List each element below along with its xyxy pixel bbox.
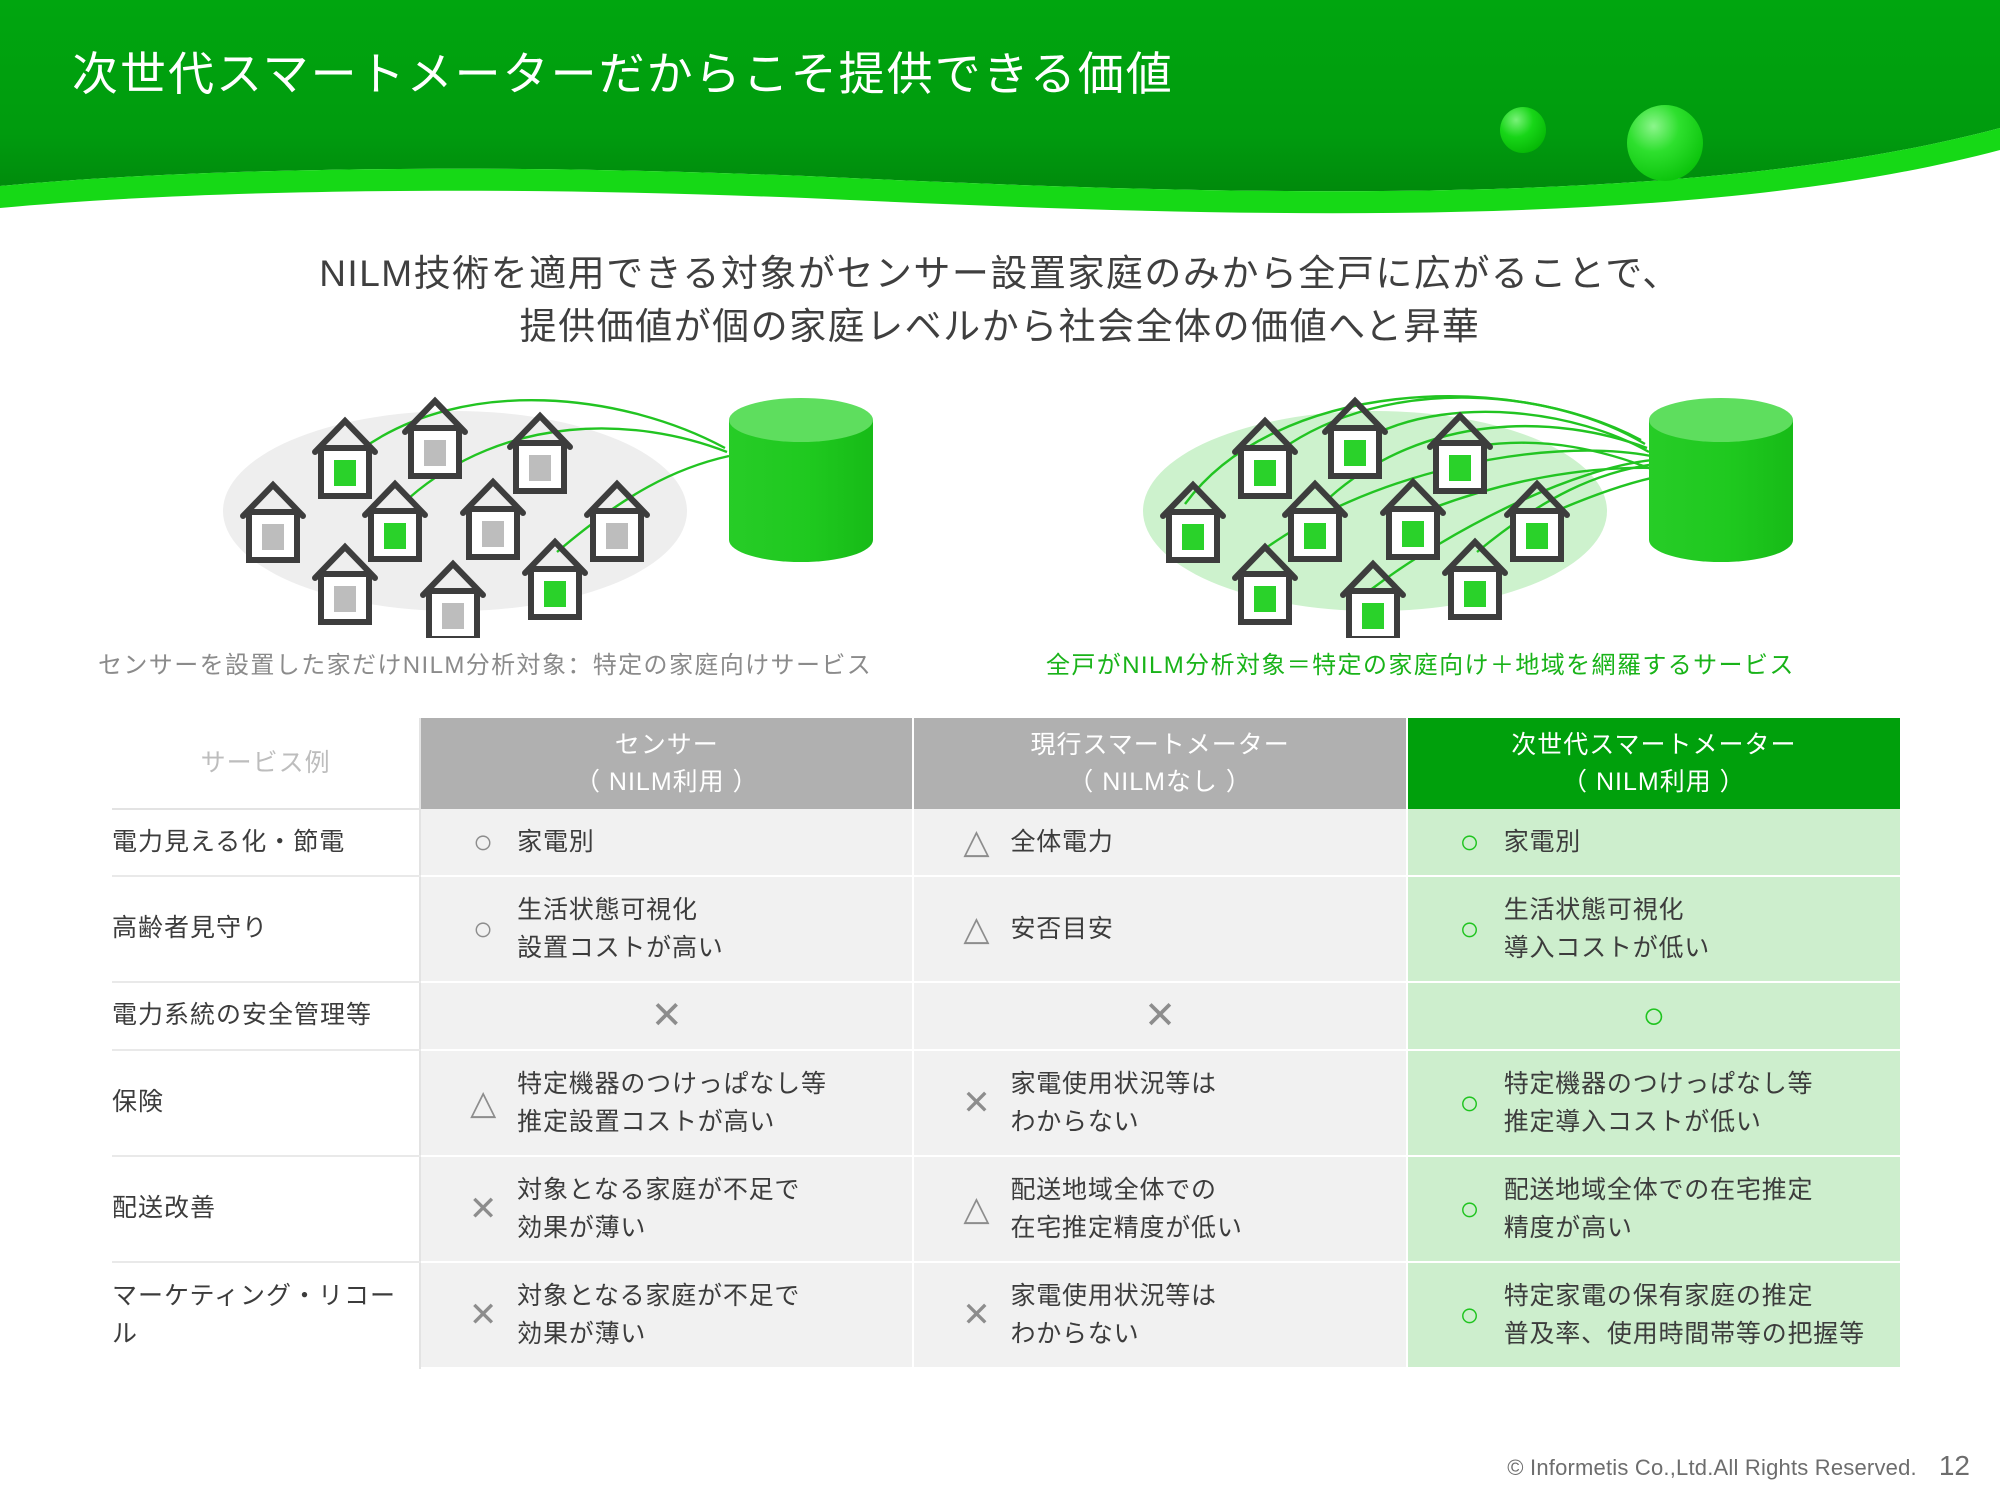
status-mark-tri: △ xyxy=(463,1086,503,1120)
header-service-example: サービス例 xyxy=(112,718,420,809)
footer: © Informetis Co.,Ltd.All Rights Reserved… xyxy=(1507,1450,1970,1482)
status-mark-circle: ○ xyxy=(463,912,503,946)
cell-text-line: 特定機器のつけっぱなし等 xyxy=(517,1065,827,1103)
header-next-gen-meter: 次世代スマートメーター （ NILM利用 ） xyxy=(1407,718,1900,809)
status-mark-tri: △ xyxy=(956,825,996,859)
cell-text-line: 対象となる家庭が不足で xyxy=(517,1171,800,1209)
meter-inactive xyxy=(262,524,284,550)
meter-active xyxy=(1402,521,1424,547)
cell-text: 安否目安 xyxy=(1010,910,1113,948)
status-mark-cross: ✕ xyxy=(956,1086,996,1120)
header-sensor-line2: （ NILM利用 ） xyxy=(421,764,912,800)
cell-text: 全体電力 xyxy=(1010,823,1113,861)
row-label: 配送改善 xyxy=(112,1156,420,1262)
cell-sensor: ✕対象となる家庭が不足で効果が薄い xyxy=(420,1156,913,1262)
table-row: 高齢者見守り○生活状態可視化設置コストが高い△安否目安○生活状態可視化導入コスト… xyxy=(112,876,1900,982)
cell-current: △全体電力 xyxy=(913,809,1406,876)
cell-text: 配送地域全体での在宅推定精度が低い xyxy=(1010,1171,1242,1247)
status-mark-circle: ○ xyxy=(1450,1086,1490,1120)
header-bubble-small xyxy=(1500,107,1546,153)
meter-active xyxy=(1254,460,1276,486)
row-label: 電力見える化・節電 xyxy=(112,809,420,876)
meter-active xyxy=(384,523,406,549)
meter-active xyxy=(1344,440,1366,466)
cell-next: ○家電別 xyxy=(1407,809,1900,876)
status-mark-cross: ✕ xyxy=(956,1298,996,1332)
cell-text: 家電使用状況等はわからない xyxy=(1010,1065,1216,1141)
cell-text: 家電別 xyxy=(1504,823,1581,861)
cell-text-line: 家電使用状況等は xyxy=(1010,1065,1216,1103)
status-mark-circle: ○ xyxy=(1642,997,1665,1035)
cell-text: 配送地域全体での在宅推定精度が高い xyxy=(1504,1171,1814,1247)
header-banner xyxy=(0,0,2000,230)
cell-text-line: 普及率、使用時間帯等の把握等 xyxy=(1504,1315,1865,1353)
diagram-row xyxy=(0,376,2000,636)
cell-text-line: 家電別 xyxy=(517,823,594,861)
meter-active xyxy=(1254,586,1276,612)
cell-text: 特定機器のつけっぱなし等推定導入コストが低い xyxy=(1504,1065,1814,1141)
table-row: 電力系統の安全管理等✕✕○ xyxy=(112,982,1900,1050)
subtitle-line-2: 提供価値が個の家庭レベルから社会全体の価値へと昇華 xyxy=(0,301,2000,354)
status-mark-cross: ✕ xyxy=(651,997,683,1035)
page-title: 次世代スマートメーターだからこそ提供できる価値 xyxy=(72,38,1174,104)
header-next-line2: （ NILM利用 ） xyxy=(1408,764,1900,800)
cell-sensor: ○生活状態可視化設置コストが高い xyxy=(420,876,913,982)
cell-next: ○配送地域全体での在宅推定精度が高い xyxy=(1407,1156,1900,1262)
cell-text: 対象となる家庭が不足で効果が薄い xyxy=(517,1277,800,1353)
meter-inactive xyxy=(606,523,628,549)
meter-active xyxy=(1304,523,1326,549)
meter-inactive xyxy=(442,603,464,629)
cell-sensor: △特定機器のつけっぱなし等推定設置コストが高い xyxy=(420,1050,913,1156)
table-row: 配送改善✕対象となる家庭が不足で効果が薄い△配送地域全体での在宅推定精度が低い○… xyxy=(112,1156,1900,1262)
cell-text-line: 導入コストが低い xyxy=(1504,929,1710,967)
caption-right: 全戸がNILM分析対象＝特定の家庭向け＋地域を網羅するサービス xyxy=(1046,645,1795,680)
header-current-meter: 現行スマートメーター （ NILMなし ） xyxy=(913,718,1406,809)
subtitle-block: NILM技術を適用できる対象がセンサー設置家庭のみから全戸に広がることで、 提供… xyxy=(0,248,2000,353)
copyright-text: © Informetis Co.,Ltd.All Rights Reserved… xyxy=(1507,1455,1917,1481)
status-mark-circle: ○ xyxy=(463,825,503,859)
meter-active xyxy=(1182,524,1204,550)
cell-sensor: ✕対象となる家庭が不足で効果が薄い xyxy=(420,1262,913,1368)
meter-active xyxy=(1526,523,1548,549)
cell-text-line: 精度が高い xyxy=(1504,1209,1814,1247)
header-sensor: センサー （ NILM利用 ） xyxy=(420,718,913,809)
cell-text-line: 特定家電の保有家庭の推定 xyxy=(1504,1277,1865,1315)
cell-text: 家電使用状況等はわからない xyxy=(1010,1277,1216,1353)
cell-text-line: 全体電力 xyxy=(1010,823,1113,861)
header-current-line1: 現行スマートメーター xyxy=(914,727,1405,763)
cell-next: ○特定機器のつけっぱなし等推定導入コストが低い xyxy=(1407,1050,1900,1156)
header-current-line2: （ NILMなし ） xyxy=(914,764,1405,800)
cell-current: ✕ xyxy=(913,982,1406,1050)
meter-inactive xyxy=(334,586,356,612)
status-mark-tri: △ xyxy=(956,912,996,946)
cell-current: ✕家電使用状況等はわからない xyxy=(913,1050,1406,1156)
cell-text-line: 在宅推定精度が低い xyxy=(1010,1209,1242,1247)
cell-sensor: ✕ xyxy=(420,982,913,1050)
meter-active xyxy=(334,460,356,486)
status-mark-circle: ○ xyxy=(1450,1298,1490,1332)
meter-active xyxy=(544,581,566,607)
cell-text-line: わからない xyxy=(1010,1103,1216,1141)
row-label-line1: マーケティング・ xyxy=(112,1282,318,1310)
meter-active xyxy=(1464,581,1486,607)
status-mark-cross: ✕ xyxy=(1144,997,1176,1035)
cell-text-line: 配送地域全体での在宅推定 xyxy=(1504,1171,1814,1209)
cell-text-line: 家電使用状況等は xyxy=(1010,1277,1216,1315)
cell-next: ○特定家電の保有家庭の推定普及率、使用時間帯等の把握等 xyxy=(1407,1262,1900,1368)
page-number: 12 xyxy=(1939,1450,1970,1482)
data-store-cylinder xyxy=(1649,398,1793,562)
cell-text-line: 設置コストが高い xyxy=(517,929,723,967)
status-mark-cross: ✕ xyxy=(463,1298,503,1332)
cell-text-line: 効果が薄い xyxy=(517,1209,800,1247)
meter-active xyxy=(1362,603,1384,629)
comparison-table: サービス例 センサー （ NILM利用 ） 現行スマートメーター （ NILMな… xyxy=(112,718,1900,1369)
status-mark-circle: ○ xyxy=(1450,1192,1490,1226)
sensor-homes-diagram xyxy=(205,376,945,636)
cell-text-line: 家電別 xyxy=(1504,823,1581,861)
status-mark-tri: △ xyxy=(956,1192,996,1226)
all-homes-diagram xyxy=(1125,376,1865,636)
cell-text-line: 推定導入コストが低い xyxy=(1504,1103,1814,1141)
row-label: 電力系統の安全管理等 xyxy=(112,982,420,1050)
cell-next: ○ xyxy=(1407,982,1900,1050)
cell-text-line: 配送地域全体での xyxy=(1010,1171,1242,1209)
cell-text-line: 推定設置コストが高い xyxy=(517,1103,827,1141)
cell-text-line: 対象となる家庭が不足で xyxy=(517,1277,800,1315)
cell-current: ✕家電使用状況等はわからない xyxy=(913,1262,1406,1368)
cell-text-line: わからない xyxy=(1010,1315,1216,1353)
cell-text: 対象となる家庭が不足で効果が薄い xyxy=(517,1171,800,1247)
cell-current: △配送地域全体での在宅推定精度が低い xyxy=(913,1156,1406,1262)
cell-sensor: ○家電別 xyxy=(420,809,913,876)
cell-text-line: 安否目安 xyxy=(1010,910,1113,948)
meter-inactive xyxy=(482,521,504,547)
row-label: マーケティング・リコール xyxy=(112,1262,420,1368)
table-body: 電力見える化・節電○家電別△全体電力○家電別高齢者見守り○生活状態可視化設置コス… xyxy=(112,809,1900,1368)
row-label: 高齢者見守り xyxy=(112,876,420,982)
cell-text-line: 特定機器のつけっぱなし等 xyxy=(1504,1065,1814,1103)
header-bubble-large xyxy=(1627,105,1703,181)
status-mark-cross: ✕ xyxy=(463,1192,503,1226)
header-sensor-line1: センサー xyxy=(421,727,912,763)
table-row: 保険△特定機器のつけっぱなし等推定設置コストが高い✕家電使用状況等はわからない○… xyxy=(112,1050,1900,1156)
meter-active xyxy=(1449,455,1471,481)
cell-text-line: 効果が薄い xyxy=(517,1315,800,1353)
table-header-row: サービス例 センサー （ NILM利用 ） 現行スマートメーター （ NILMな… xyxy=(112,718,1900,809)
caption-left: センサーを設置した家だけNILM分析対象：特定の家庭向けサービス xyxy=(98,645,872,680)
status-mark-circle: ○ xyxy=(1450,912,1490,946)
cell-text: 特定家電の保有家庭の推定普及率、使用時間帯等の把握等 xyxy=(1504,1277,1865,1353)
cell-text-line: 生活状態可視化 xyxy=(1504,891,1710,929)
table-row: マーケティング・リコール✕対象となる家庭が不足で効果が薄い✕家電使用状況等はわか… xyxy=(112,1262,1900,1368)
meter-inactive xyxy=(424,440,446,466)
header-next-line1: 次世代スマートメーター xyxy=(1408,727,1900,763)
cell-next: ○生活状態可視化導入コストが低い xyxy=(1407,876,1900,982)
cell-text: 特定機器のつけっぱなし等推定設置コストが高い xyxy=(517,1065,827,1141)
subtitle-line-1: NILM技術を適用できる対象がセンサー設置家庭のみから全戸に広がることで、 xyxy=(0,248,2000,301)
data-store-cylinder xyxy=(729,398,873,562)
cell-text-line: 生活状態可視化 xyxy=(517,891,723,929)
cell-text: 生活状態可視化導入コストが低い xyxy=(1504,891,1710,967)
cell-text: 生活状態可視化設置コストが高い xyxy=(517,891,723,967)
meter-inactive xyxy=(529,455,551,481)
row-label: 保険 xyxy=(112,1050,420,1156)
cell-current: △安否目安 xyxy=(913,876,1406,982)
cell-text: 家電別 xyxy=(517,823,594,861)
status-mark-circle: ○ xyxy=(1450,825,1490,859)
table-row: 電力見える化・節電○家電別△全体電力○家電別 xyxy=(112,809,1900,876)
